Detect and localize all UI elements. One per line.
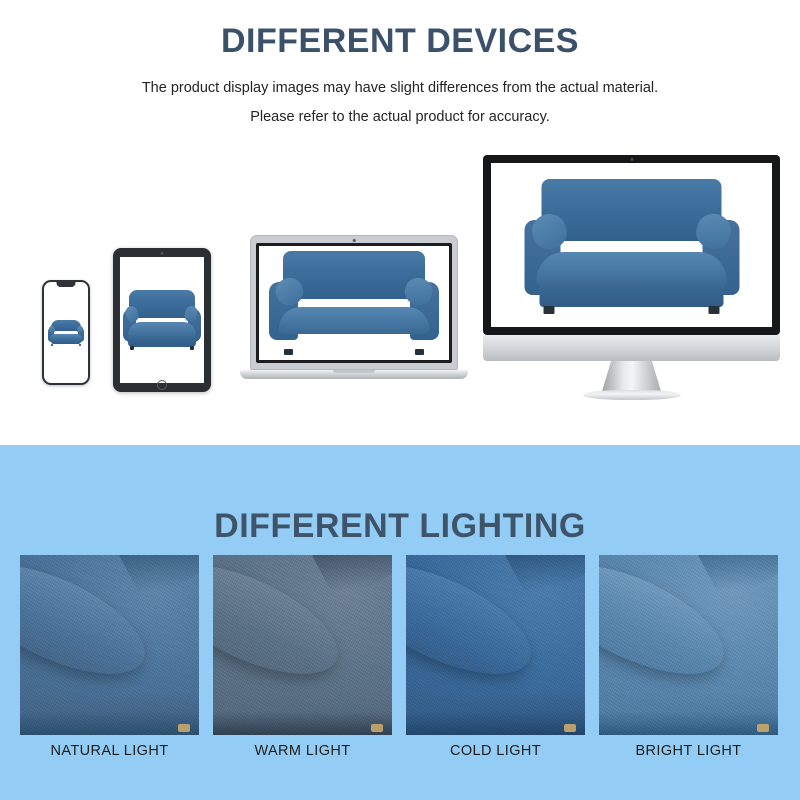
laptop-mockup (240, 235, 468, 390)
monitor-chin (483, 335, 780, 361)
laptop-base-notch-icon (333, 370, 375, 373)
tablet-screen (120, 257, 204, 383)
lighting-swatch-bright-light: BRIGHT LIGHT (599, 555, 778, 735)
fabric-texture-overlay (20, 555, 199, 735)
laptop-lid (250, 235, 458, 370)
monitor-screen (491, 163, 772, 327)
laptop-screen (259, 246, 449, 360)
device-mockup-stage (0, 140, 800, 410)
phone-screen (44, 282, 88, 383)
fabric-texture-overlay (213, 555, 392, 735)
different-devices-section: DIFFERENT DEVICES The product display im… (0, 0, 800, 445)
lighting-swatch-warm-light: WARM LIGHT (213, 555, 392, 735)
monitor-stand-base (583, 390, 681, 400)
lighting-swatch-label: WARM LIGHT (213, 743, 392, 759)
lighting-swatch-image (213, 555, 392, 735)
laptop-camera-icon (353, 239, 356, 242)
tablet-camera-icon (161, 252, 164, 255)
lighting-swatch-label: COLD LIGHT (406, 743, 585, 759)
laptop-base (240, 370, 468, 379)
lighting-swatch-natural-light: NATURAL LIGHT (20, 555, 199, 735)
lighting-swatch-cold-light: COLD LIGHT (406, 555, 585, 735)
phone-notch-icon (57, 282, 76, 287)
lighting-swatch-row: NATURAL LIGHTWARM LIGHTCOLD LIGHTBRIGHT … (20, 555, 783, 735)
sofa-product-image-phone (48, 320, 84, 346)
product-infographic-page: DIFFERENT DEVICES The product display im… (0, 0, 800, 800)
fabric-tag-icon (371, 724, 383, 732)
sofa-product-image-monitor (524, 179, 739, 314)
monitor-mockup (483, 155, 780, 402)
lighting-swatch-image (599, 555, 778, 735)
phone-mockup (42, 280, 90, 385)
tablet-home-button-icon (157, 380, 167, 390)
sofa-product-image-tablet (123, 290, 201, 350)
devices-subtitle-line-1: The product display images may have slig… (0, 80, 800, 96)
devices-subtitle-line-2: Please refer to the actual product for a… (0, 109, 800, 125)
lighting-swatch-label: BRIGHT LIGHT (599, 743, 778, 759)
fabric-tag-icon (178, 724, 190, 732)
fabric-tag-icon (757, 724, 769, 732)
lighting-swatch-label: NATURAL LIGHT (20, 743, 199, 759)
fabric-texture-overlay (599, 555, 778, 735)
different-lighting-section: DIFFERENT LIGHTING NATURAL LIGHTWARM LIG… (0, 445, 800, 800)
fabric-texture-overlay (406, 555, 585, 735)
monitor-camera-icon (630, 158, 633, 161)
sofa-product-image-laptop (269, 251, 439, 355)
devices-section-title: DIFFERENT DEVICES (0, 22, 800, 61)
lighting-swatch-image (20, 555, 199, 735)
lighting-swatch-image (406, 555, 585, 735)
monitor-bezel (483, 155, 780, 335)
tablet-mockup (113, 248, 211, 392)
fabric-tag-icon (564, 724, 576, 732)
laptop-bezel (256, 243, 452, 363)
monitor-stand-neck (602, 361, 662, 393)
lighting-section-title: DIFFERENT LIGHTING (0, 507, 800, 546)
